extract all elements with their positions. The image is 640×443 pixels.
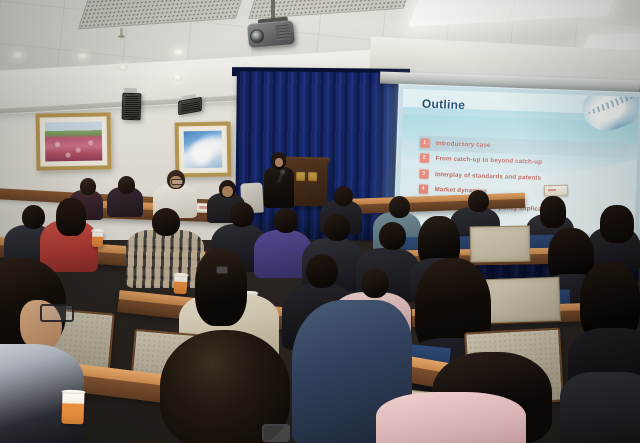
projector-lens-icon: [250, 29, 265, 44]
painting-left-canvas: [45, 122, 103, 162]
podium-glyph: [296, 171, 305, 180]
person-torso: [126, 230, 204, 288]
desk-panel: [470, 225, 531, 262]
person-hair: [195, 248, 247, 326]
person-head: [306, 254, 338, 288]
slide-item-number: 4: [418, 185, 427, 194]
slide-item-number: 2: [419, 154, 428, 163]
wall-speaker-left: [122, 93, 142, 121]
person-torso: [560, 372, 640, 443]
person-head: [389, 196, 410, 218]
slide-item-number: 1: [420, 138, 429, 147]
person-hair: [56, 198, 86, 236]
downlight-icon: [12, 52, 23, 59]
person-head: [274, 208, 298, 233]
speaker-grille-icon: [181, 100, 199, 111]
slide-item-label: From catch-up to beyond catch-up: [435, 155, 542, 166]
person-head: [379, 222, 406, 250]
seminar-room-photo: Outline 1 Introductory case 2 From catch…: [0, 0, 640, 443]
paper-cup: [174, 275, 188, 295]
person-head: [230, 202, 254, 227]
person-head: [152, 208, 180, 236]
name-placard: [544, 185, 568, 197]
desk-panel: [485, 277, 560, 324]
paper-cup-front: [61, 392, 84, 425]
sprinkler-head: [120, 28, 123, 36]
painting-right-canvas: [184, 131, 223, 169]
slide-item-label: Interplay of standards and patents: [435, 171, 541, 182]
person-hair: [600, 205, 634, 243]
person-head: [324, 214, 350, 241]
painting-right: [175, 122, 232, 178]
person-head: [80, 178, 96, 195]
glasses-icon: [262, 424, 290, 442]
ceiling-projector: [247, 20, 295, 48]
glasses-icon: [40, 304, 74, 322]
presenter: [262, 152, 296, 208]
person-face: [222, 186, 233, 197]
person-torso: [376, 392, 526, 443]
slide-item-number: 3: [419, 169, 428, 178]
podium-glyph: [308, 172, 317, 181]
person-hair: [540, 196, 566, 228]
person-head: [361, 268, 389, 298]
downlight-icon: [77, 53, 88, 60]
paper-cup: [92, 231, 104, 247]
slide-item-label: Introductory case: [436, 140, 491, 149]
slide-title: Outline: [422, 96, 466, 112]
person-head: [22, 205, 45, 229]
person-head: [118, 176, 135, 194]
projector-vent: [275, 24, 290, 40]
speaker-grille-icon: [125, 96, 139, 117]
glasses-icon: [216, 266, 228, 274]
person-head: [468, 190, 489, 212]
person-head: [334, 186, 353, 206]
presenter-body: [264, 167, 294, 208]
presenter-face: [275, 158, 283, 167]
downlight-icon: [172, 74, 183, 81]
downlight-icon: [117, 64, 128, 71]
painting-left: [36, 112, 112, 170]
downlight-icon: [173, 49, 184, 56]
glasses-icon: [171, 179, 184, 185]
